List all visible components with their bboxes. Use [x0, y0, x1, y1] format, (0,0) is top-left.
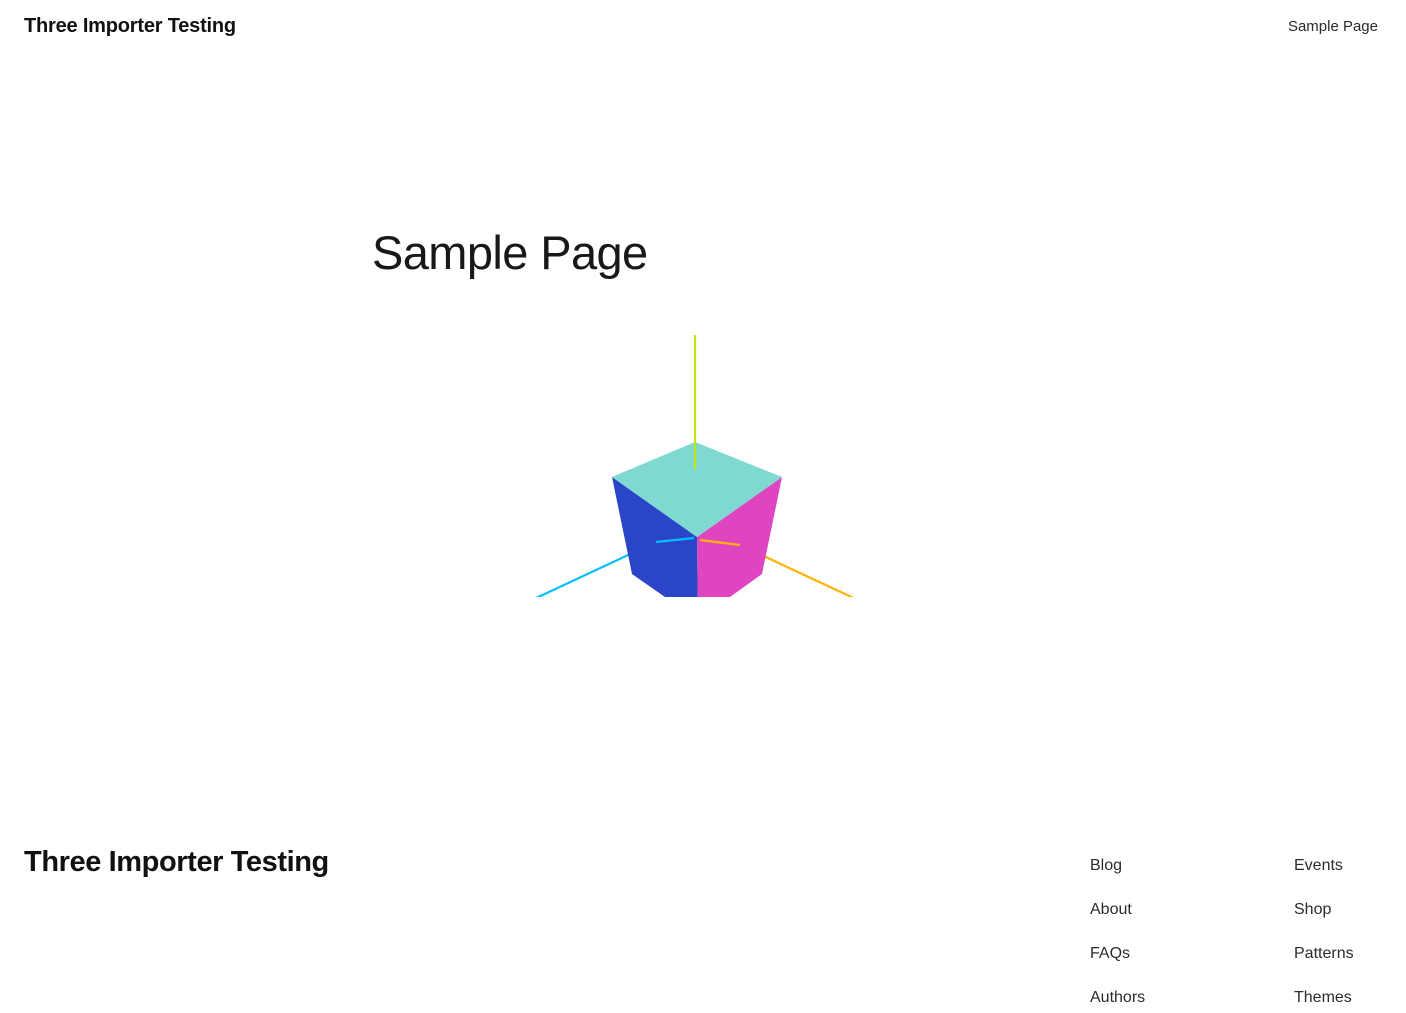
site-title[interactable]: Three Importer Testing: [24, 16, 236, 36]
site-header: Three Importer Testing Sample Page: [0, 0, 1406, 52]
footer-link-events[interactable]: Events: [1294, 844, 1384, 888]
footer-navigation: Blog About FAQs Authors Events Shop Patt…: [1090, 844, 1384, 1013]
footer-link-about[interactable]: About: [1090, 888, 1180, 932]
footer-link-faqs[interactable]: FAQs: [1090, 932, 1180, 976]
footer-link-patterns[interactable]: Patterns: [1294, 932, 1384, 976]
three-js-cube-viewer[interactable]: [460, 257, 930, 597]
footer-column-2: Events Shop Patterns Themes: [1294, 844, 1384, 1013]
cube-canvas[interactable]: [460, 257, 930, 597]
footer-site-title[interactable]: Three Importer Testing: [24, 848, 329, 877]
site-footer: Three Importer Testing Blog About FAQs A…: [0, 792, 1406, 1013]
footer-column-1: Blog About FAQs Authors: [1090, 844, 1180, 1013]
footer-link-shop[interactable]: Shop: [1294, 888, 1384, 932]
main-content: Sample Page: [0, 52, 1406, 792]
page-root: Three Importer Testing Sample Page Sampl…: [0, 0, 1406, 1013]
header-navigation: Sample Page: [1288, 19, 1378, 34]
footer-link-authors[interactable]: Authors: [1090, 976, 1180, 1013]
header-nav-sample-page[interactable]: Sample Page: [1288, 19, 1378, 34]
footer-link-blog[interactable]: Blog: [1090, 844, 1180, 888]
footer-link-themes[interactable]: Themes: [1294, 976, 1384, 1013]
